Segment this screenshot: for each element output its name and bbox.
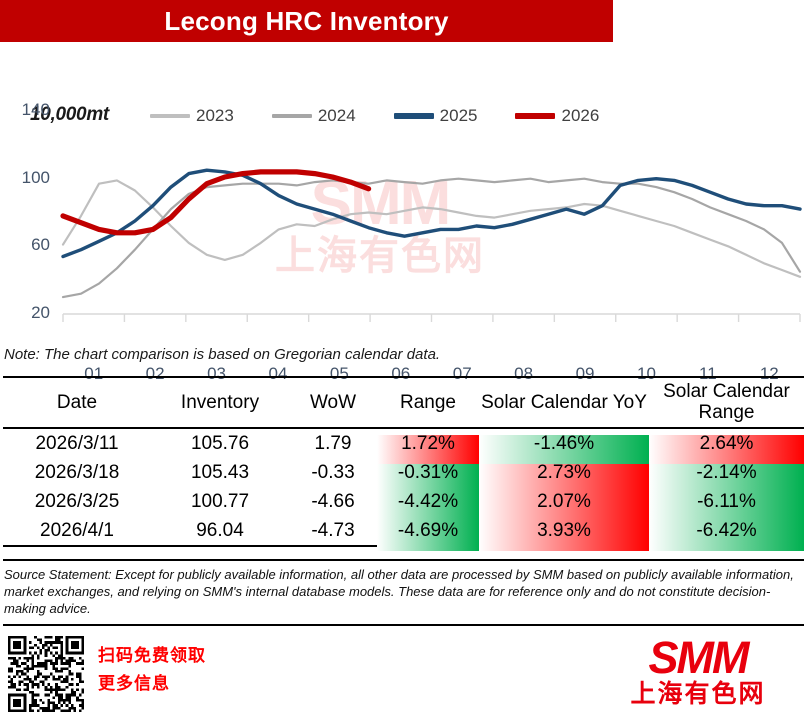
footer: 扫码免费领取 更多信息 SMM 上海有色网: [0, 628, 807, 718]
cell-cal-range: -2.14%: [649, 458, 804, 487]
table-row: 2026/3/11105.761.791.72%-1.46%2.64%: [3, 428, 804, 458]
smm-logo: SMM 上海有色网: [603, 636, 793, 710]
y-tick-60: 60: [8, 235, 50, 255]
axis-line: [63, 314, 800, 322]
col-header-range: Range: [377, 377, 479, 428]
col-header-inventory: Inventory: [151, 377, 289, 428]
qr-code-icon[interactable]: [8, 636, 84, 712]
cell-range: 1.72%: [377, 428, 479, 458]
page-title: Lecong HRC Inventory: [164, 6, 448, 37]
cell-yoy: 2.07%: [479, 487, 649, 516]
col-header-solar-calendar-range: Solar Calendar Range: [649, 377, 804, 428]
chart-panel: 10,000mt 2023 2024 2025 2026 SMM 上海有色网 2…: [0, 42, 807, 338]
inventory-table: Date Inventory WoW Range Solar Calendar …: [3, 376, 804, 547]
title-bar: Lecong HRC Inventory: [0, 0, 613, 42]
chart-note: Note: The chart comparison is based on G…: [4, 346, 440, 363]
chart-plot-area: [0, 42, 807, 338]
cell-range: -0.31%: [377, 458, 479, 487]
table-bottom-rule: [3, 559, 804, 561]
table-header: Date Inventory WoW Range Solar Calendar …: [3, 377, 804, 428]
smm-logo-sub: 上海有色网: [603, 680, 793, 708]
series-line-2024: [63, 179, 800, 297]
cell-wow: -4.66: [289, 487, 377, 516]
promo-line-2: 更多信息: [98, 670, 206, 698]
cell-yoy: -1.46%: [479, 428, 649, 458]
cell-range: -4.42%: [377, 487, 479, 516]
cell-date: 2026/3/18: [3, 458, 151, 487]
promo-text: 扫码免费领取 更多信息: [98, 642, 206, 698]
cell-yoy: 2.73%: [479, 458, 649, 487]
table-row: 2026/4/196.04-4.73-4.69%3.93%-6.42%: [3, 516, 804, 546]
cell-range: -4.69%: [377, 516, 479, 546]
cell-cal-range: -6.11%: [649, 487, 804, 516]
y-tick-20: 20: [8, 303, 50, 323]
cell-yoy: 3.93%: [479, 516, 649, 546]
source-divider: [3, 624, 804, 626]
cell-wow: -0.33: [289, 458, 377, 487]
table-header-row: Date Inventory WoW Range Solar Calendar …: [3, 377, 804, 428]
chart-svg: [0, 42, 807, 338]
cell-cal-range: 2.64%: [649, 428, 804, 458]
cell-cal-range: -6.42%: [649, 516, 804, 546]
y-tick-140: 140: [8, 100, 50, 120]
promo-line-1: 扫码免费领取: [98, 642, 206, 670]
cell-date: 2026/4/1: [3, 516, 151, 546]
cell-inventory: 105.76: [151, 428, 289, 458]
col-header-solar-calendar-yoy: Solar Calendar YoY: [479, 377, 649, 428]
y-tick-100: 100: [8, 168, 50, 188]
cell-wow: -4.73: [289, 516, 377, 546]
table-body: 2026/3/11105.761.791.72%-1.46%2.64%2026/…: [3, 428, 804, 546]
cell-inventory: 100.77: [151, 487, 289, 516]
smm-logo-main: SMM: [603, 636, 793, 680]
source-statement: Source Statement: Except for publicly av…: [4, 566, 799, 617]
col-header-wow: WoW: [289, 377, 377, 428]
cell-wow: 1.79: [289, 428, 377, 458]
cell-date: 2026/3/11: [3, 428, 151, 458]
col-header-date: Date: [3, 377, 151, 428]
cell-inventory: 105.43: [151, 458, 289, 487]
table-row: 2026/3/25100.77-4.66-4.42%2.07%-6.11%: [3, 487, 804, 516]
series-line-2023: [63, 180, 800, 276]
cell-date: 2026/3/25: [3, 487, 151, 516]
cell-inventory: 96.04: [151, 516, 289, 546]
table-row: 2026/3/18105.43-0.33-0.31%2.73%-2.14%: [3, 458, 804, 487]
